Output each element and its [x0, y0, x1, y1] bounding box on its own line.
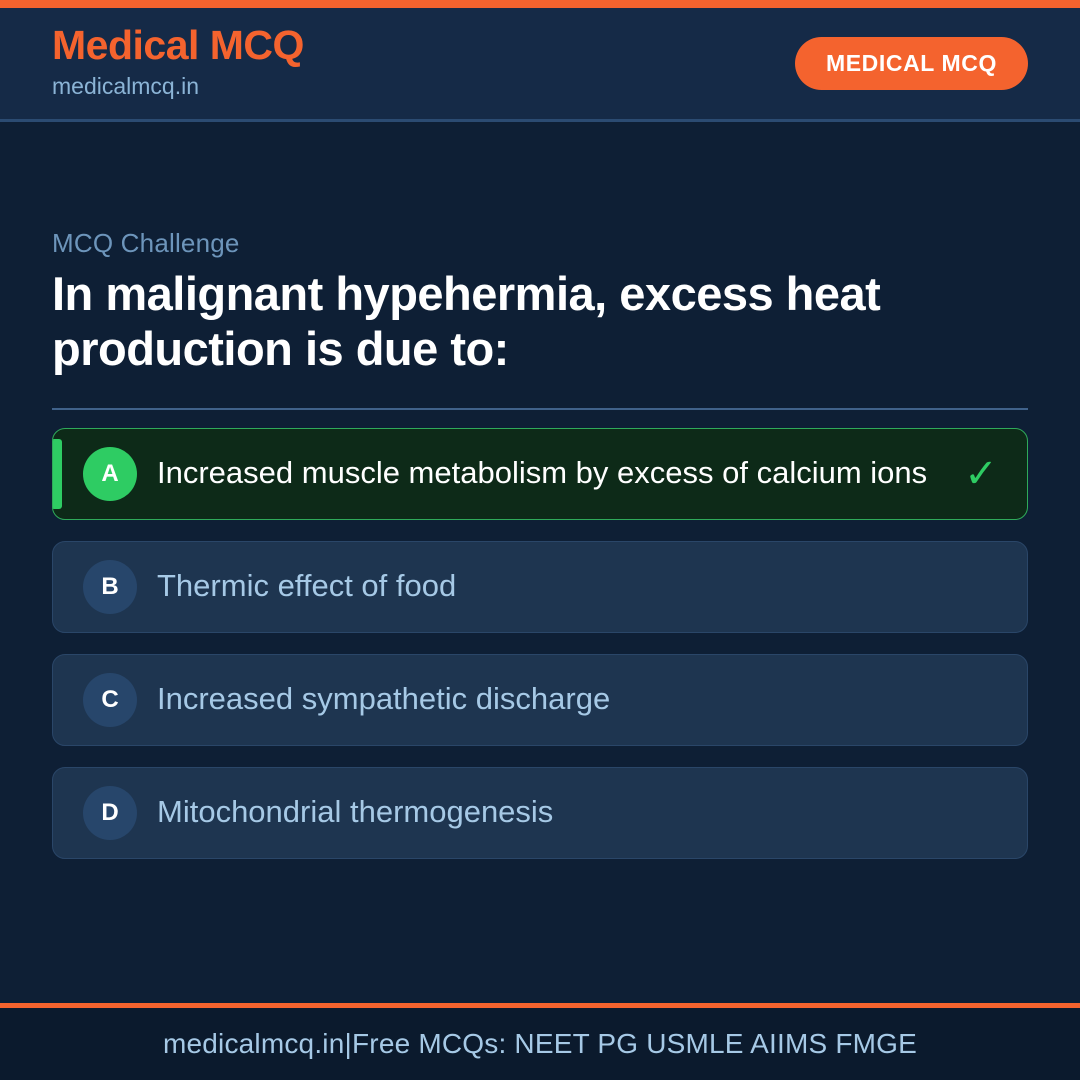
top-accent-bar — [0, 0, 1080, 8]
mcq-card: Medical MCQ medicalmcq.in MEDICAL MCQ MC… — [0, 0, 1080, 1080]
option-row-a[interactable]: A Increased muscle metabolism by excess … — [52, 428, 1028, 520]
footer-site[interactable]: medicalmcq.in — [163, 1028, 345, 1060]
footer: medicalmcq.in | Free MCQs: NEET PG USMLE… — [0, 1008, 1080, 1080]
option-text: Thermic effect of food — [157, 568, 959, 605]
header-badge: MEDICAL MCQ — [795, 37, 1028, 90]
check-icon: ✓ — [959, 454, 1003, 494]
option-row-c[interactable]: C Increased sympathetic discharge — [52, 654, 1028, 746]
options-list: A Increased muscle metabolism by excess … — [52, 428, 1028, 859]
option-row-d[interactable]: D Mitochondrial thermogenesis — [52, 767, 1028, 859]
brand: Medical MCQ medicalmcq.in — [52, 24, 304, 104]
correct-accent-bar — [53, 439, 62, 509]
option-text: Increased muscle metabolism by excess of… — [157, 455, 959, 492]
option-text: Increased sympathetic discharge — [157, 681, 959, 718]
option-letter-badge: B — [83, 560, 137, 614]
brand-title: Medical MCQ — [52, 24, 304, 67]
question-divider — [52, 408, 1028, 410]
option-letter-badge: A — [83, 447, 137, 501]
kicker-label: MCQ Challenge — [52, 228, 1028, 259]
option-letter-badge: C — [83, 673, 137, 727]
footer-separator: | — [345, 1028, 352, 1060]
footer-tagline: Free MCQs: NEET PG USMLE AIIMS FMGE — [352, 1028, 917, 1060]
brand-subtitle: medicalmcq.in — [52, 69, 304, 104]
option-row-b[interactable]: B Thermic effect of food — [52, 541, 1028, 633]
main-content: MCQ Challenge In malignant hypehermia, e… — [0, 122, 1080, 1003]
header: Medical MCQ medicalmcq.in MEDICAL MCQ — [0, 8, 1080, 122]
option-text: Mitochondrial thermogenesis — [157, 794, 959, 831]
question-text: In malignant hypehermia, excess heat pro… — [52, 267, 1028, 375]
option-letter-badge: D — [83, 786, 137, 840]
